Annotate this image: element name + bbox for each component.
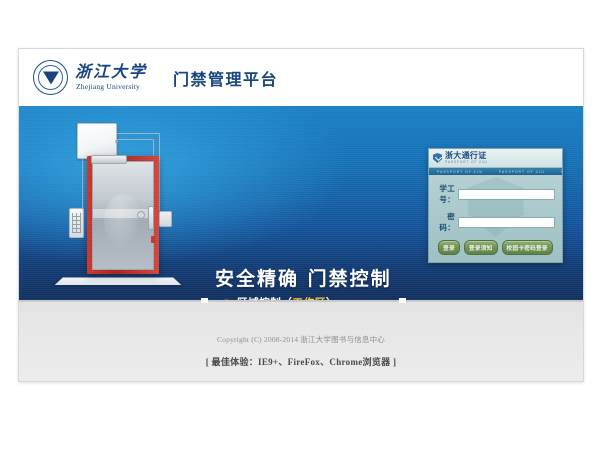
door-handle [148, 206, 154, 230]
banner-headline: 安全精确 门禁控制 [215, 264, 392, 291]
strip-text: PASSPORT OF ZJU [429, 170, 491, 174]
shield-icon [433, 153, 442, 163]
hero-banner: 安全精确 门禁控制 区域控制（工作区） 群组控制（权限组） 时段控制（时间段） … [19, 106, 583, 300]
strip-text: PASSPORT OF ZJU [491, 170, 553, 174]
door-status-light [151, 236, 155, 243]
site-header: 浙江大学 Zhejiang University 门禁管理平台 [19, 49, 583, 106]
wire-segment [117, 139, 153, 140]
login-panel-title-cn: 浙大通行证 [445, 152, 488, 160]
wire-segment [159, 133, 160, 211]
userid-label: 学工号： [436, 183, 458, 205]
site-footer: Copyright (C) 2008-2014 浙江大学图书与信息中心 [ 最佳… [19, 300, 583, 382]
password-label: 密 码： [436, 211, 458, 233]
page-title: 门禁管理平台 [173, 66, 278, 90]
campus-card-login-button[interactable]: 校园卡密码登录 [502, 240, 553, 255]
login-form: 学工号： 密 码： 登录 登录须知 校园卡密码登录 [429, 175, 562, 262]
zju-emblem-icon [33, 60, 68, 95]
login-panel-header: 浙大通行证 PASSPORT OF ZJU [429, 149, 562, 168]
card-reader [159, 211, 172, 227]
keypad-reader [69, 208, 84, 238]
login-panel-strip: PASSPORT OF ZJU PASSPORT OF ZJU PASSPORT… [429, 168, 562, 175]
copyright-text: Copyright (C) 2008-2014 浙江大学图书与信息中心 [19, 302, 583, 345]
login-panel-title-block: 浙大通行证 PASSPORT OF ZJU [445, 152, 488, 164]
access-controller-box [77, 123, 117, 159]
login-button-row: 登录 登录须知 校园卡密码登录 [436, 240, 555, 255]
emblem-bird-shape [43, 72, 59, 85]
app-window: 浙江大学 Zhejiang University 门禁管理平台 安全精确 [18, 48, 584, 382]
university-name-block: 浙江大学 Zhejiang University [68, 65, 147, 91]
door-knob [137, 211, 145, 219]
wire-segment [113, 133, 159, 134]
university-name-cn: 浙江大学 [75, 65, 147, 81]
footer-notch [201, 298, 208, 303]
door-closer [91, 155, 127, 164]
login-notice-button[interactable]: 登录须知 [464, 240, 498, 255]
university-name-en: Zhejiang University [76, 83, 147, 91]
floor-platform [55, 278, 181, 285]
userid-input[interactable] [458, 189, 555, 200]
login-panel: 浙大通行证 PASSPORT OF ZJU PASSPORT OF ZJU PA… [428, 148, 563, 263]
footer-notch [399, 298, 406, 303]
login-panel-title-en: PASSPORT OF ZJU [445, 161, 488, 164]
strip-text: PASSPORT OF ZJU [553, 170, 562, 174]
password-input[interactable] [458, 217, 555, 228]
field-row-password: 密 码： [436, 211, 555, 233]
access-control-illustration [47, 111, 187, 296]
login-button[interactable]: 登录 [438, 240, 460, 255]
browser-support-text: [ 最佳体验：IE9+、FireFox、Chrome浏览器 ] [19, 345, 583, 368]
field-row-userid: 学工号： [436, 183, 555, 205]
university-logo[interactable]: 浙江大学 Zhejiang University [33, 60, 147, 95]
wire-segment [82, 157, 83, 209]
